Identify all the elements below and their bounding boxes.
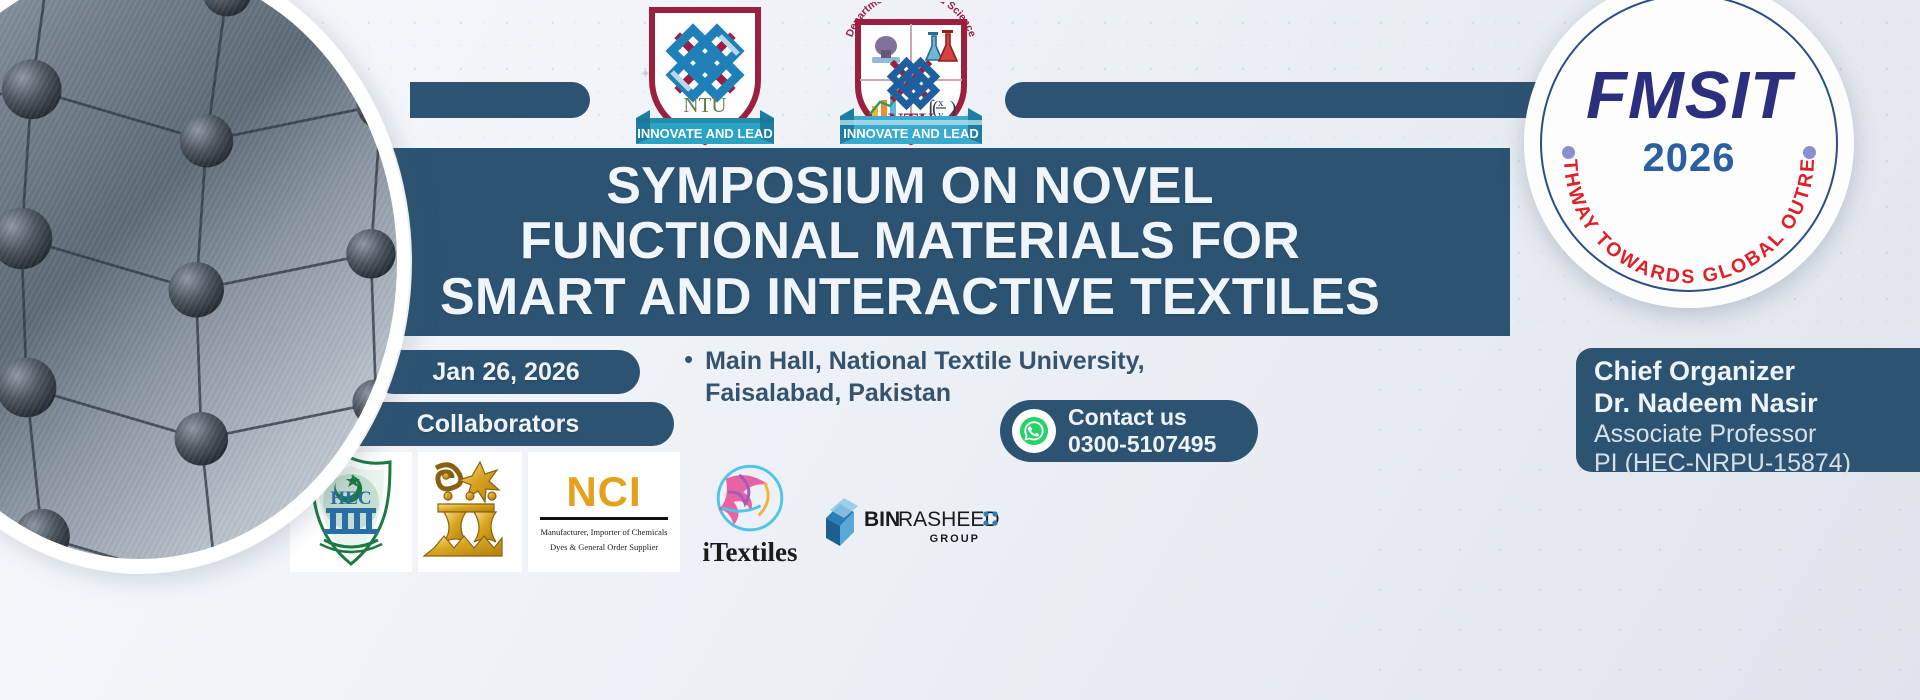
contact-heading: Contact us bbox=[1068, 404, 1216, 431]
ntu-applied-science-logo: Department of Applied Science bbox=[836, 2, 986, 150]
organizer-role: Chief Organizer bbox=[1594, 356, 1914, 388]
contact-phone: 0300-5107495 bbox=[1068, 431, 1216, 458]
binrasheed-group-logo: BIN RASHEED GROUP bbox=[820, 482, 1006, 572]
page-title: SYMPOSIUM ON NOVEL FUNCTIONAL MATERIALS … bbox=[416, 159, 1404, 326]
nci-logo-label: NCI bbox=[566, 471, 641, 513]
ntu-ribbon-text: INNOVATE AND LEAD bbox=[637, 126, 773, 141]
itextiles-mark-icon bbox=[697, 461, 803, 539]
badge-tagline-arc: A PATHWAY TOWARDS GLOBAL OUTREACH bbox=[1524, 0, 1854, 308]
nci-divider bbox=[540, 517, 668, 520]
badge-tagline: A PATHWAY TOWARDS GLOBAL OUTREACH bbox=[1524, 0, 1819, 288]
nci-subtitle-2: Dyes & General Order Supplier bbox=[550, 542, 658, 553]
binrasheed-bold-label: BIN bbox=[864, 508, 900, 531]
title-band: SYMPOSIUM ON NOVEL FUNCTIONAL MATERIALS … bbox=[310, 148, 1510, 336]
title-line-3: SMART AND INTERACTIVE TEXTILES bbox=[440, 270, 1380, 326]
svg-text:): ) bbox=[950, 98, 956, 119]
nci-subtitle-1: Manufacturer, Importer of Chemicals bbox=[540, 527, 667, 538]
event-date-pill: Jan 26, 2026 bbox=[372, 350, 640, 394]
nci-logo: NCI Manufacturer, Importer of Chemicals … bbox=[528, 452, 680, 572]
svg-text:A PATHWAY TOWARDS GLOBAL OUTRE: A PATHWAY TOWARDS GLOBAL OUTREACH bbox=[1524, 0, 1819, 288]
decorative-bar-right bbox=[1005, 82, 1545, 118]
title-line-2: FUNCTIONAL MATERIALS FOR bbox=[440, 214, 1380, 270]
title-line-1: SYMPOSIUM ON NOVEL bbox=[440, 159, 1380, 215]
bullet-icon: • bbox=[684, 345, 693, 374]
contact-text: Contact us 0300-5107495 bbox=[1068, 404, 1216, 458]
ntu-shield-text: NTU bbox=[683, 93, 726, 117]
event-banner: ✦ ✦ ✦ ✦ ✦ ✦ bbox=[0, 0, 1920, 700]
university-logos: NTU INNOVATE AND LEAD Department of Appl… bbox=[630, 2, 986, 150]
ntu-logo: NTU INNOVATE AND LEAD bbox=[630, 2, 780, 150]
gold-ornament-logo bbox=[418, 452, 522, 572]
molecular-lattice-graphic bbox=[0, 0, 397, 559]
decorative-bar-left bbox=[410, 82, 590, 118]
binrasheed-light-label: RASHEED bbox=[898, 508, 1000, 531]
itextiles-logo: iTextiles bbox=[686, 454, 814, 572]
collaborator-logos: HEC bbox=[290, 452, 1006, 572]
organizer-designation: Associate Professor bbox=[1594, 420, 1914, 450]
contact-pill[interactable]: Contact us 0300-5107495 bbox=[1000, 400, 1258, 462]
itextiles-logo-label: iTextiles bbox=[702, 539, 797, 566]
graphene-lattice-image bbox=[0, 0, 410, 572]
venue-line-1: Main Hall, National Textile University, bbox=[705, 345, 1144, 377]
fmsit-badge: FMSIT 2026 A PATHWAY TOWARDS GLOBAL OUTR… bbox=[1524, 0, 1854, 308]
ntu-ribbon-text: INNOVATE AND LEAD bbox=[843, 126, 979, 141]
organizer-name: Dr. Nadeem Nasir bbox=[1594, 388, 1914, 420]
binrasheed-sub-label: GROUP bbox=[930, 533, 980, 545]
svg-text:x: x bbox=[938, 97, 944, 109]
chief-organizer-panel: Chief Organizer Dr. Nadeem Nasir Associa… bbox=[1576, 348, 1920, 472]
whatsapp-icon bbox=[1012, 409, 1056, 453]
organizer-project: PI (HEC-NRPU-15874) bbox=[1594, 449, 1914, 479]
